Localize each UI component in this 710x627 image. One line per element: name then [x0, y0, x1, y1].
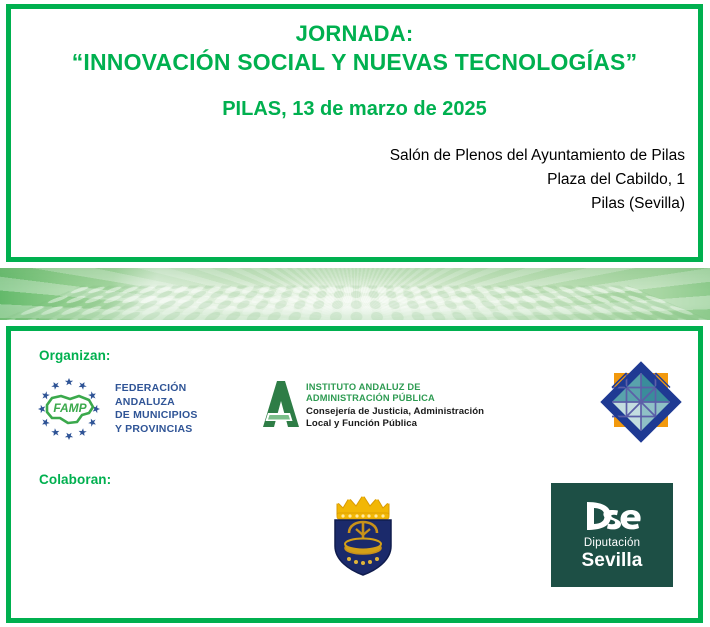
logo-diputacion-sevilla[interactable]: Diputación Sevilla — [551, 483, 673, 587]
organizan-label: Organizan: — [39, 348, 111, 363]
iaap-subtitle-line-1: Consejería de Justicia, Administración — [306, 406, 484, 418]
address-line-venue: Salón de Plenos del Ayuntamiento de Pila… — [11, 144, 685, 168]
iaap-title-line-1: INSTITUTO ANDALUZ DE — [306, 382, 484, 393]
logo-iaap[interactable]: INSTITUTO ANDALUZ DE ADMINISTRACIÓN PÚBL… — [257, 379, 507, 439]
famp-text-line-3: DE MUNICIPIOS — [115, 409, 198, 423]
band-gradient-overlay — [0, 268, 710, 320]
page-title-line-2: “INNOVACIÓN SOCIAL Y NUEVAS TECNOLOGÍAS” — [11, 48, 698, 77]
event-date: PILAS, 13 de marzo de 2025 — [11, 96, 698, 122]
poster-root: JORNADA: “INNOVACIÓN SOCIAL Y NUEVAS TEC… — [0, 0, 710, 627]
header-panel: JORNADA: “INNOVACIÓN SOCIAL Y NUEVAS TEC… — [6, 4, 703, 262]
page-title-line-1: JORNADA: — [11, 19, 698, 48]
colaboran-label: Colaboran: — [39, 472, 111, 487]
iaap-title-line-2: ADMINISTRACIÓN PÚBLICA — [306, 393, 484, 404]
header-block: JORNADA: “INNOVACIÓN SOCIAL Y NUEVAS TEC… — [11, 9, 698, 216]
address-line-street: Plaza del Cabildo, 1 — [11, 168, 685, 192]
address-line-city: Pilas (Sevilla) — [11, 192, 685, 216]
diputacion-label: Diputación — [584, 537, 640, 550]
iaap-wordmark: INSTITUTO ANDALUZ DE ADMINISTRACIÓN PÚBL… — [306, 379, 484, 430]
crown-icon — [334, 491, 391, 519]
logo-famp[interactable]: FAMP FEDERACIÓN ANDALUZA DE MUNICIPIOS Y… — [29, 373, 214, 445]
iaap-subtitle-line-2: Local y Función Pública — [306, 418, 484, 430]
logo-ayuntamiento-pilas[interactable] — [322, 489, 404, 577]
venue-address: Salón de Plenos del Ayuntamiento de Pila… — [11, 144, 698, 216]
logo-geometric-diamond[interactable] — [600, 361, 682, 443]
famp-text-line-1: FEDERACIÓN — [115, 382, 198, 396]
junta-andalucia-a-icon — [257, 379, 301, 431]
geometric-diamond-icon — [600, 361, 682, 443]
svg-text:FAMP: FAMP — [53, 401, 87, 415]
dse-monogram-icon — [581, 499, 643, 533]
famp-text-line-2: ANDALUZA — [115, 396, 198, 410]
decorative-green-band — [0, 268, 710, 320]
andalusia-map-icon: FAMP — [44, 391, 96, 427]
sevilla-label: Sevilla — [582, 550, 643, 571]
sponsors-panel: Organizan: Colaboran: — [6, 326, 703, 623]
famp-wordmark: FEDERACIÓN ANDALUZA DE MUNICIPIOS Y PROV… — [115, 382, 198, 436]
famp-text-line-4: Y PROVINCIAS — [115, 423, 198, 437]
famp-emblem: FAMP — [29, 375, 109, 443]
pilas-coat-of-arms-icon — [322, 489, 404, 577]
